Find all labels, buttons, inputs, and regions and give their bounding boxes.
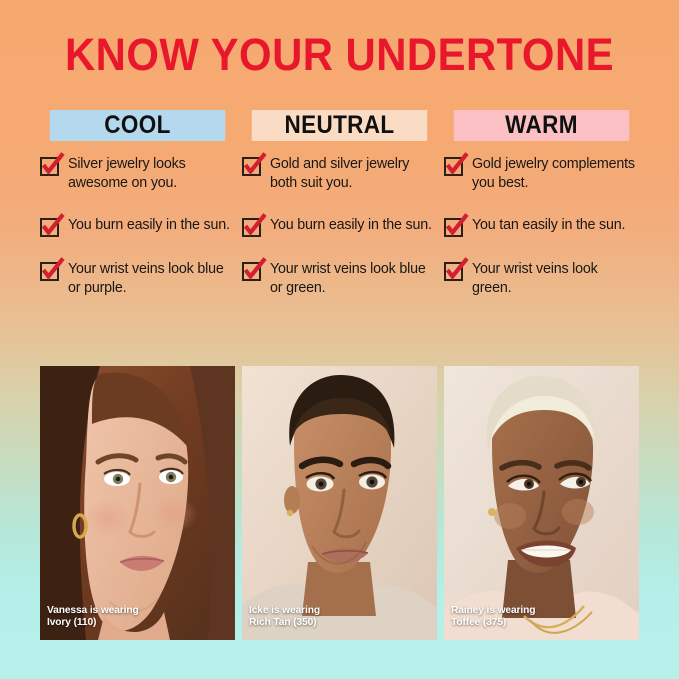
checkmark-icon bbox=[40, 152, 66, 178]
checkmark-icon bbox=[444, 257, 470, 283]
list-item-label: Silver jewelry looks awesome on you. bbox=[68, 155, 235, 193]
column-header-warm: WARM bbox=[454, 110, 630, 141]
column-header-neutral: NEUTRAL bbox=[252, 110, 428, 141]
list-item[interactable]: You burn easily in the sun. bbox=[242, 216, 437, 237]
undertone-columns: COOL Silver jewelry looks awesome on you… bbox=[40, 110, 640, 321]
caption-line-1: Rainey is wearing bbox=[451, 605, 535, 618]
checklist-warm: Gold jewelry complements you best. You t… bbox=[444, 155, 639, 298]
caption-line-1: Vanessa is wearing bbox=[47, 605, 139, 618]
list-item-label: Gold jewelry complements you best. bbox=[472, 155, 639, 193]
caption-line-2: Toffee (375) bbox=[451, 617, 535, 630]
portrait-image-icke bbox=[242, 366, 437, 640]
checkbox-checked[interactable] bbox=[242, 157, 261, 176]
caption-line-2: Ivory (110) bbox=[47, 617, 139, 630]
list-item-label: Gold and silver jewelry both suit you. bbox=[270, 155, 437, 193]
caption-line-2: Rich Tan (350) bbox=[249, 617, 320, 630]
checkmark-icon bbox=[242, 152, 268, 178]
checkbox-checked[interactable] bbox=[444, 262, 463, 281]
list-item-label: You burn easily in the sun. bbox=[270, 216, 432, 235]
photo-caption-neutral: Icke is wearing Rich Tan (350) bbox=[249, 605, 320, 631]
photo-neutral: Icke is wearing Rich Tan (350) bbox=[242, 366, 437, 640]
list-item-label: You burn easily in the sun. bbox=[68, 216, 230, 235]
column-header-cool: COOL bbox=[50, 110, 226, 141]
page-title: KNOW YOUR UNDERTONE bbox=[24, 32, 655, 77]
photo-caption-cool: Vanessa is wearing Ivory (110) bbox=[47, 605, 139, 631]
checkbox-checked[interactable] bbox=[444, 157, 463, 176]
list-item[interactable]: Your wrist veins look blue or purple. bbox=[40, 260, 235, 298]
list-item-label: Your wrist veins look blue or green. bbox=[270, 260, 437, 298]
list-item[interactable]: Gold jewelry complements you best. bbox=[444, 155, 639, 193]
list-item[interactable]: Your wrist veins look blue or green. bbox=[242, 260, 437, 298]
undertone-infographic: KNOW YOUR UNDERTONE COOL Silver jewelry … bbox=[0, 0, 679, 679]
photo-warm: Rainey is wearing Toffee (375) bbox=[444, 366, 639, 640]
checkbox-checked[interactable] bbox=[242, 218, 261, 237]
list-item-label: You tan easily in the sun. bbox=[472, 216, 625, 235]
list-item[interactable]: You tan easily in the sun. bbox=[444, 216, 639, 237]
checkmark-icon bbox=[40, 213, 66, 239]
checklist-neutral: Gold and silver jewelry both suit you. Y… bbox=[242, 155, 437, 298]
checkmark-icon bbox=[444, 213, 470, 239]
checkbox-checked[interactable] bbox=[40, 262, 59, 281]
checkbox-checked[interactable] bbox=[40, 218, 59, 237]
column-cool: COOL Silver jewelry looks awesome on you… bbox=[40, 110, 235, 321]
photo-cool: Vanessa is wearing Ivory (110) bbox=[40, 366, 235, 640]
column-warm: WARM Gold jewelry complements you best. bbox=[444, 110, 639, 321]
list-item-label: Your wrist veins look green. bbox=[472, 260, 639, 298]
checkmark-icon bbox=[40, 257, 66, 283]
caption-line-1: Icke is wearing bbox=[249, 605, 320, 618]
checkbox-checked[interactable] bbox=[242, 262, 261, 281]
checkbox-checked[interactable] bbox=[40, 157, 59, 176]
list-item[interactable]: Gold and silver jewelry both suit you. bbox=[242, 155, 437, 193]
list-item[interactable]: Silver jewelry looks awesome on you. bbox=[40, 155, 235, 193]
list-item[interactable]: Your wrist veins look green. bbox=[444, 260, 639, 298]
checkmark-icon bbox=[242, 257, 268, 283]
list-item[interactable]: You burn easily in the sun. bbox=[40, 216, 235, 237]
checkmark-icon bbox=[242, 213, 268, 239]
photo-caption-warm: Rainey is wearing Toffee (375) bbox=[451, 605, 535, 631]
list-item-label: Your wrist veins look blue or purple. bbox=[68, 260, 235, 298]
model-photos: Vanessa is wearing Ivory (110) bbox=[40, 366, 640, 640]
column-neutral: NEUTRAL Gold and silver jewelry both sui… bbox=[242, 110, 437, 321]
portrait-image-rainey bbox=[444, 366, 639, 640]
portrait-image-vanessa bbox=[40, 366, 235, 640]
checkmark-icon bbox=[444, 152, 470, 178]
checkbox-checked[interactable] bbox=[444, 218, 463, 237]
checklist-cool: Silver jewelry looks awesome on you. You… bbox=[40, 155, 235, 298]
